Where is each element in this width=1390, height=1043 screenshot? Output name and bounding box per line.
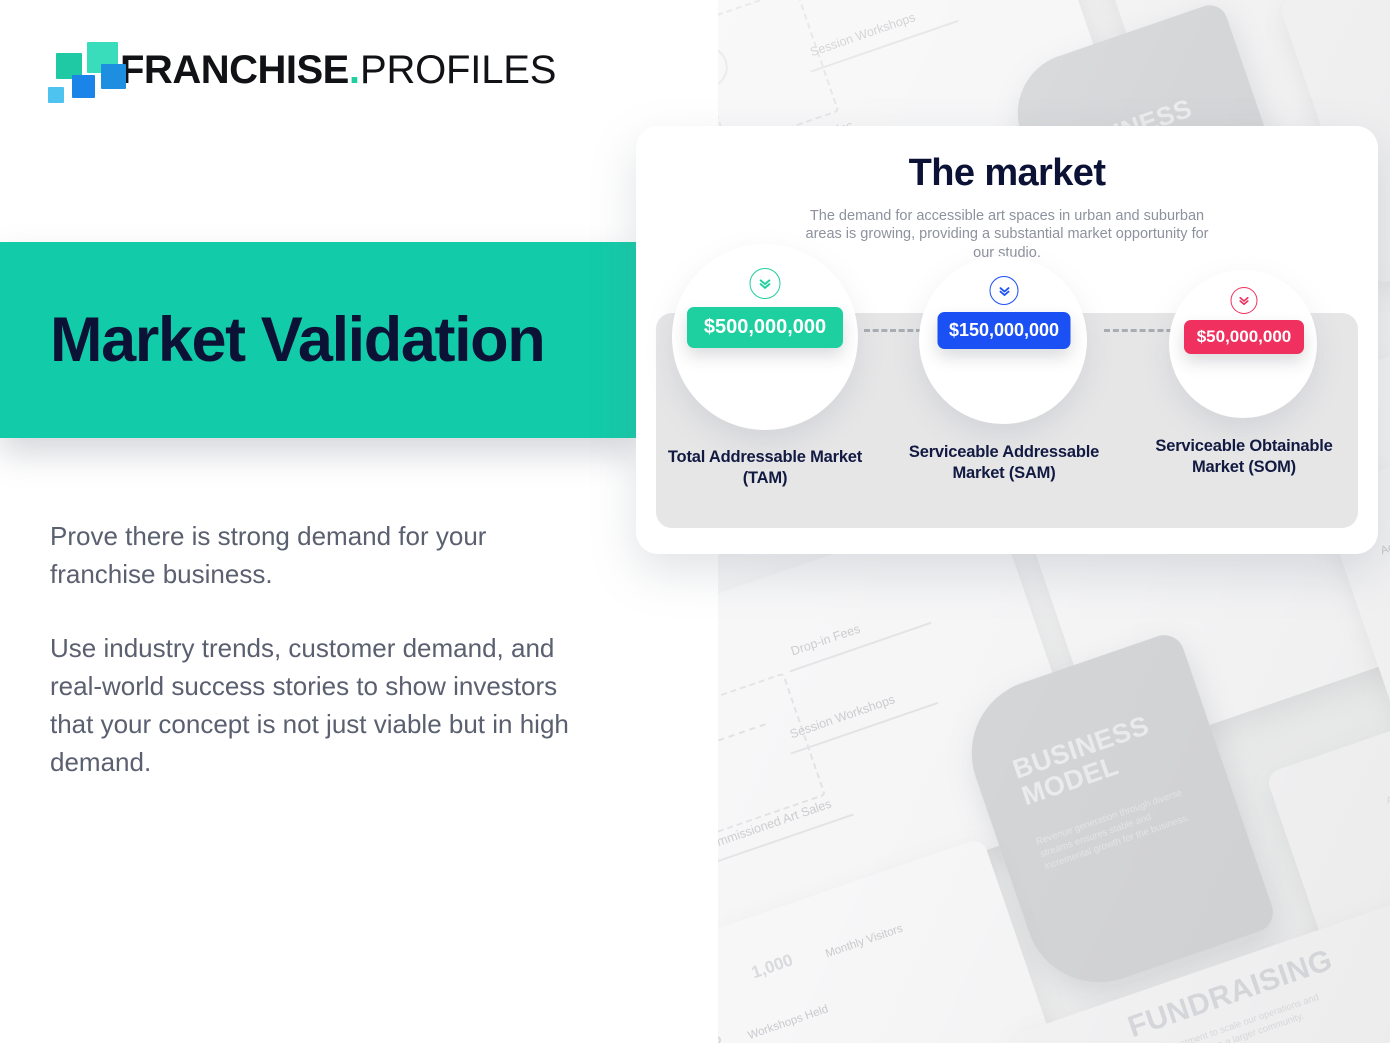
funnel-stage-tam[interactable]: $500,000,000 Total Addressable Market (T… xyxy=(672,244,858,534)
logo-square-5 xyxy=(48,87,64,103)
bg-label: Acce Spa xyxy=(1379,522,1390,559)
double-chevron-down-icon xyxy=(750,268,781,299)
funnel-value-som: $50,000,000 xyxy=(1184,320,1304,354)
logo-square-4 xyxy=(101,64,126,89)
double-chevron-down-icon xyxy=(1231,287,1258,314)
slide-title-banner: Market Validation xyxy=(0,242,637,438)
market-funnel: $500,000,000 Total Addressable Market (T… xyxy=(656,244,1358,534)
bg-label: Drop-in Fees xyxy=(789,622,862,659)
brand-logo: FRANCHISE . PROFILES xyxy=(48,42,556,98)
logo-text-franchise: FRANCHISE xyxy=(120,48,349,93)
body-paragraph-2: Use industry trends, customer demand, an… xyxy=(50,630,590,782)
market-card: The market The demand for accessible art… xyxy=(636,126,1378,554)
logo-wordmark: FRANCHISE . PROFILES xyxy=(120,48,556,93)
funnel-stage-som[interactable]: $50,000,000 Serviceable Obtainable Marke… xyxy=(1151,244,1337,534)
logo-mark-icon xyxy=(48,42,110,98)
funnel-label-tam: Total Addressable Market (TAM) xyxy=(662,447,868,489)
market-card-title: The market xyxy=(636,152,1378,195)
funnel-label-som: Serviceable Obtainable Market (SOM) xyxy=(1141,436,1347,478)
slide-body-copy: Prove there is strong demand for your fr… xyxy=(50,518,590,782)
funnel-value-sam: $150,000,000 xyxy=(938,312,1071,349)
bg-metric-label: Workshops Held xyxy=(746,1003,829,1042)
bg-metric-value: 1,000 xyxy=(749,950,796,983)
bg-metric-value: 75 xyxy=(718,1030,724,1043)
page-title: Market Validation xyxy=(50,309,544,372)
logo-text-dot: . xyxy=(349,48,360,93)
double-chevron-down-icon xyxy=(990,276,1019,305)
body-paragraph-1: Prove there is strong demand for your fr… xyxy=(50,518,590,594)
funnel-value-tam: $500,000,000 xyxy=(687,307,843,348)
funnel-label-sam: Serviceable Addressable Market (SAM) xyxy=(901,442,1107,484)
logo-text-profiles: PROFILES xyxy=(360,48,556,93)
bg-metric-label: Monthly Visitors xyxy=(824,923,904,961)
funnel-stage-sam[interactable]: $150,000,000 Serviceable Addressable Mar… xyxy=(911,244,1097,534)
logo-square-3 xyxy=(72,75,95,98)
